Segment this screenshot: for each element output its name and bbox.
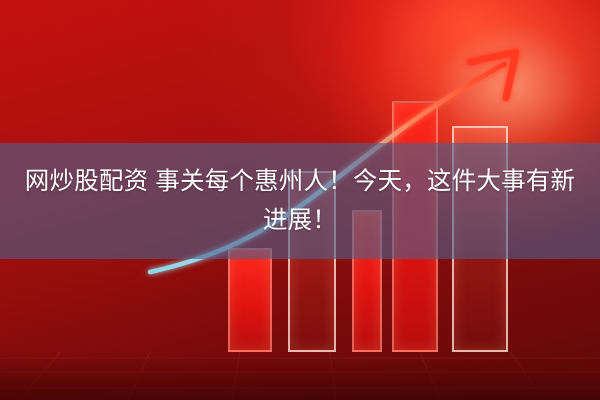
headline-text: 网炒股配资 事关每个惠州人！今天，这件大事有新进展！ xyxy=(7,162,593,240)
floor-shadow xyxy=(0,352,600,400)
promo-image: 网炒股配资 事关每个惠州人！今天，这件大事有新进展！ xyxy=(0,0,600,400)
headline-band: 网炒股配资 事关每个惠州人！今天，这件大事有新进展！ xyxy=(0,143,600,259)
